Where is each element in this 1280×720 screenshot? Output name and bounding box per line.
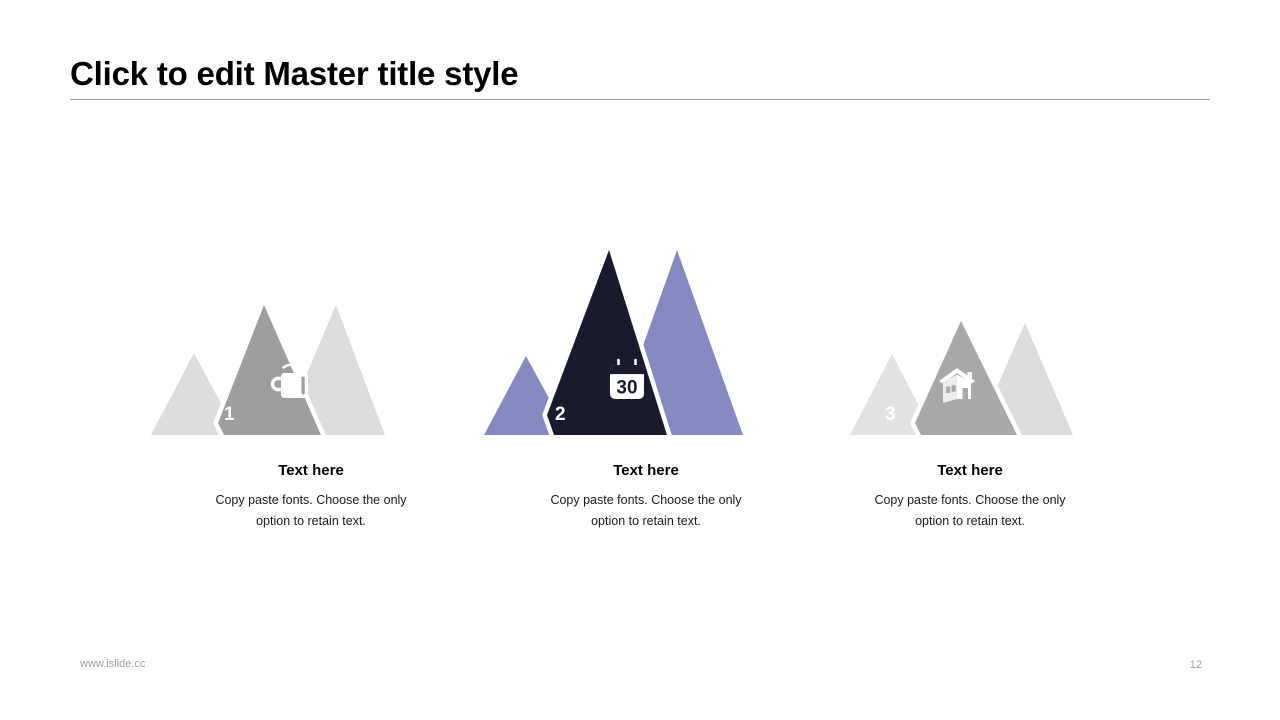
peaks-group-2: 2 30 <box>481 243 811 435</box>
caption-title-1[interactable]: Text here <box>146 462 476 480</box>
calendar-day-text: 30 <box>616 378 637 399</box>
calendar-icon: 30 <box>601 355 653 407</box>
page-title[interactable]: Click to edit Master title style <box>70 55 1210 93</box>
caption-title-2[interactable]: Text here <box>481 462 811 480</box>
caption-group-3: Text here Copy paste fonts. Choose the o… <box>805 462 1135 531</box>
coffee-mug-icon <box>270 355 322 407</box>
peaks-group-3: 3 <box>805 243 1135 435</box>
step-number-2: 2 <box>555 405 566 424</box>
house-icon <box>933 359 985 411</box>
mountain-groups: 1 Text here <box>0 243 1280 543</box>
step-number-3: 3 <box>885 405 896 424</box>
step-number-1: 1 <box>224 405 235 424</box>
caption-group-2: Text here Copy paste fonts. Choose the o… <box>481 462 811 531</box>
footer-url[interactable]: www.islide.cc <box>80 658 145 670</box>
page-number: 12 <box>1190 659 1202 671</box>
caption-body-3[interactable]: Copy paste fonts. Choose the only option… <box>868 490 1073 531</box>
mountain-group-2[interactable]: 2 30 Te <box>481 243 811 435</box>
peaks-group-1: 1 <box>146 243 476 435</box>
title-divider <box>70 99 1210 100</box>
mountain-group-3[interactable]: 3 <box>805 243 1135 435</box>
caption-body-2[interactable]: Copy paste fonts. Choose the only option… <box>544 490 749 531</box>
caption-group-1: Text here Copy paste fonts. Choose the o… <box>146 462 476 531</box>
caption-body-1[interactable]: Copy paste fonts. Choose the only option… <box>209 490 414 531</box>
caption-title-3[interactable]: Text here <box>805 462 1135 480</box>
mountain-group-1[interactable]: 1 Text here <box>146 243 476 435</box>
slide-canvas: Click to edit Master title style 1 <box>0 0 1280 720</box>
title-block: Click to edit Master title style <box>70 55 1210 100</box>
